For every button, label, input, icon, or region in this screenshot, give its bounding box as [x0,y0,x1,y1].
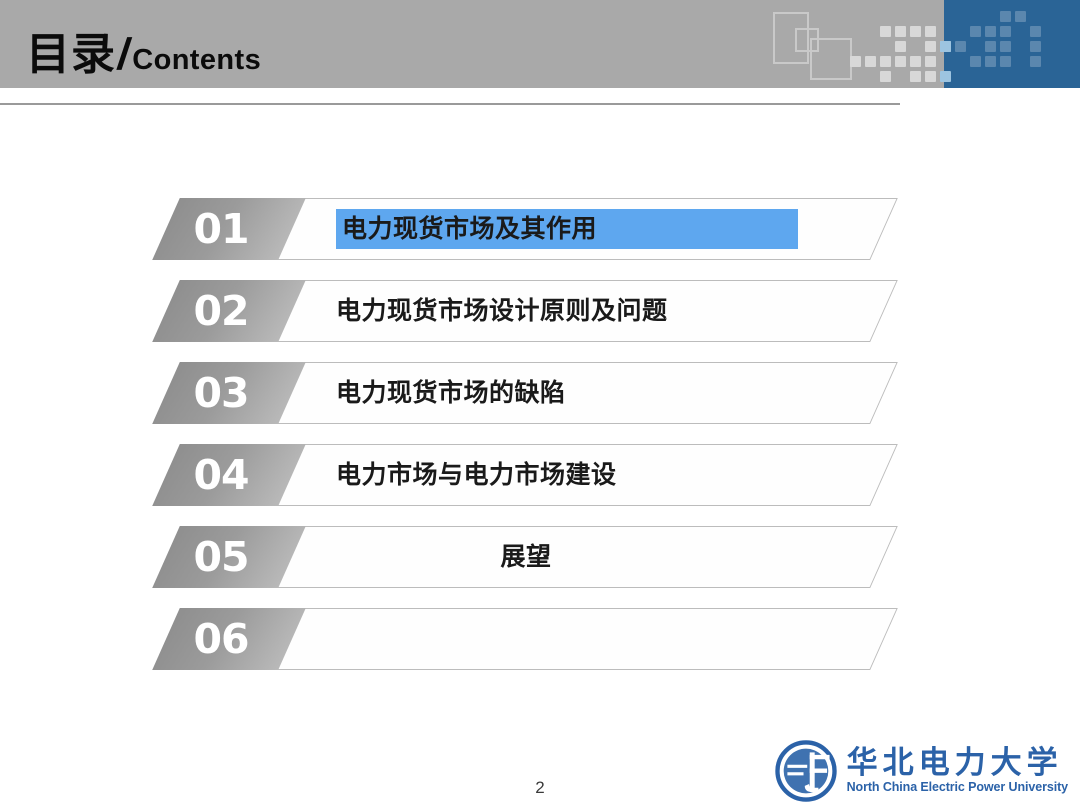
university-name-en: North China Electric Power University [847,779,1068,795]
contents-item-label: 电力现货市场的缺陷 [336,373,566,413]
contents-item-number-block: 02 [152,280,306,342]
deco-square [1000,26,1011,37]
contents-item-number: 06 [166,608,292,670]
contents-item-label-wrap: 电力现货市场设计原则及问题 [336,280,668,342]
deco-rectangle-square [810,38,852,80]
ncepu-emblem-icon [775,740,837,802]
contents-item-number: 01 [166,198,292,260]
contents-item-number-block: 06 [152,608,306,670]
contents-item-06[interactable]: 06 [0,600,1080,682]
deco-square [865,56,876,67]
page-title-en: Contents [132,44,261,77]
contents-list: 01 电力现货市场及其作用 02 电力现货市场设计原则及问题 03 电力现货市场… [0,190,1080,682]
university-logo-text: 华北电力大学 North China Electric Power Univer… [847,747,1068,796]
contents-item-label: 电力市场与电力市场建设 [336,455,617,495]
contents-item-label: 电力现货市场设计原则及问题 [336,291,668,331]
contents-item-number-block: 01 [152,198,306,260]
deco-square [925,41,936,52]
contents-item-number: 05 [166,526,292,588]
deco-square [880,26,891,37]
deco-square [985,41,996,52]
deco-square [880,56,891,67]
contents-item-02[interactable]: 02 电力现货市场设计原则及问题 [0,272,1080,354]
deco-square [985,56,996,67]
university-name-cn: 华北电力大学 [847,747,1068,780]
deco-square [1030,26,1041,37]
contents-item-number-block: 03 [152,362,306,424]
deco-square [940,41,951,52]
deco-square [925,71,936,82]
contents-item-label-wrap: 电力现货市场的缺陷 [336,362,566,424]
university-logo: 华北电力大学 North China Electric Power Univer… [775,740,1068,802]
contents-item-number: 03 [166,362,292,424]
contents-item-label-wrap: 电力现货市场及其作用 [336,198,798,260]
deco-square [910,26,921,37]
deco-square [925,56,936,67]
contents-item-label-wrap: 电力市场与电力市场建设 [336,444,617,506]
contents-item-number: 02 [166,280,292,342]
deco-square [1000,41,1011,52]
contents-item-03[interactable]: 03 电力现货市场的缺陷 [0,354,1080,436]
contents-item-05[interactable]: 05 展望 [0,518,1080,600]
deco-square [910,71,921,82]
slide-header-bar: 目录 / Contents [0,0,1080,88]
contents-item-number-block: 05 [152,526,306,588]
deco-square [895,26,906,37]
deco-square [925,26,936,37]
deco-square [895,56,906,67]
deco-square [1030,41,1041,52]
deco-square [880,71,891,82]
contents-item-04[interactable]: 04 电力市场与电力市场建设 [0,436,1080,518]
deco-square [1000,11,1011,22]
page-title: 目录 / Contents [26,18,261,82]
deco-square [940,71,951,82]
contents-item-label: 电力现货市场及其作用 [336,209,798,249]
contents-item-number-block: 04 [152,444,306,506]
contents-item-number: 04 [166,444,292,506]
deco-square [955,41,966,52]
deco-square [985,26,996,37]
header-divider [0,103,900,105]
page-title-cn: 目录 [26,18,116,82]
deco-square [850,56,861,67]
deco-square [1030,56,1041,67]
deco-square [910,56,921,67]
deco-square [970,56,981,67]
deco-square [970,26,981,37]
deco-square [1015,11,1026,22]
deco-square [895,41,906,52]
contents-item-label: 展望 [500,537,551,577]
deco-square [1000,56,1011,67]
contents-item-01[interactable]: 01 电力现货市场及其作用 [0,190,1080,272]
contents-item-label-wrap: 展望 [336,526,716,588]
